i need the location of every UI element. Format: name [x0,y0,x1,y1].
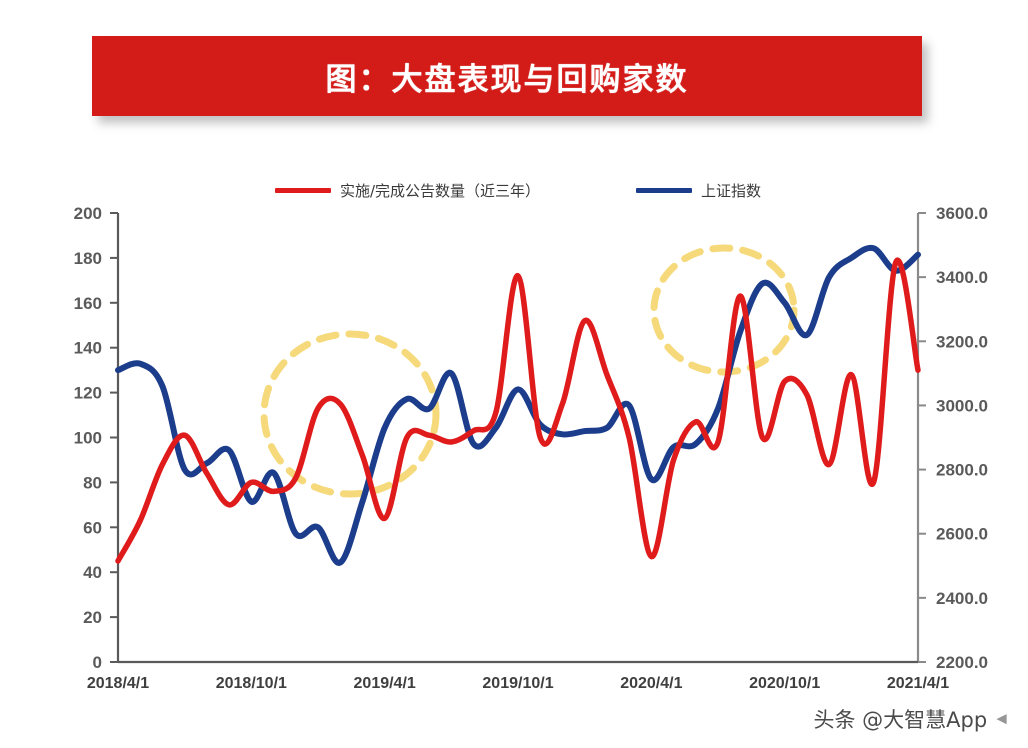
x-axis-tick-label: 2018/4/1 [87,675,149,692]
left-axis-tick-label: 60 [83,518,102,537]
left-axis-tick-label: 20 [83,608,102,627]
watermark-text: 头条 @大智慧App [813,704,987,734]
left-axis-tick-label: 0 [93,653,102,672]
right-axis-tick-label: 3000.0 [936,396,988,415]
highlight-ellipse-right [654,248,794,372]
left-axis-tick-labels: 020406080100120140160180200 [74,204,102,672]
right-axis-tick-label: 2800.0 [936,461,988,480]
left-axis-ticks [110,213,118,662]
x-axis-tick-label: 2019/4/1 [354,675,416,692]
line-series-buyback-count [118,260,918,561]
left-axis-tick-label: 160 [74,294,102,313]
line-series-sse-index [118,248,918,563]
right-axis-tick-label: 2600.0 [936,525,988,544]
right-axis-tick-label: 2400.0 [936,589,988,608]
right-axis-tick-labels: 2200.02400.02600.02800.03000.03200.03400… [936,204,988,672]
watermark-arrow-icon: ◄ [993,709,1010,729]
x-axis-tick-label: 2020/10/1 [749,675,820,692]
watermark: 头条 @大智慧App ◄ [813,704,1010,734]
highlight-ellipse-left [264,334,436,494]
right-axis-tick-label: 3400.0 [936,268,988,287]
x-axis-tick-label: 2021/4/1 [887,675,949,692]
right-axis-tick-label: 3600.0 [936,204,988,223]
chart-svg: 020406080100120140160180200 2200.02400.0… [0,0,1028,748]
left-axis-tick-label: 140 [74,339,102,358]
left-axis-tick-label: 120 [74,384,102,403]
x-axis-tick-labels: 2018/4/12018/10/12019/4/12019/10/12020/4… [87,675,949,692]
right-axis-tick-label: 2200.0 [936,653,988,672]
left-axis-tick-label: 40 [83,563,102,582]
left-axis-tick-label: 100 [74,429,102,448]
left-axis-tick-label: 200 [74,204,102,223]
left-axis-tick-label: 180 [74,249,102,268]
x-axis-tick-label: 2018/10/1 [216,675,287,692]
x-axis-tick-label: 2020/4/1 [620,675,682,692]
x-axis-tick-label: 2019/10/1 [482,675,553,692]
left-axis-tick-label: 80 [83,473,102,492]
chart-plot-area: 020406080100120140160180200 2200.02400.0… [0,0,1028,748]
right-axis-ticks [918,213,926,662]
right-axis-tick-label: 3200.0 [936,332,988,351]
